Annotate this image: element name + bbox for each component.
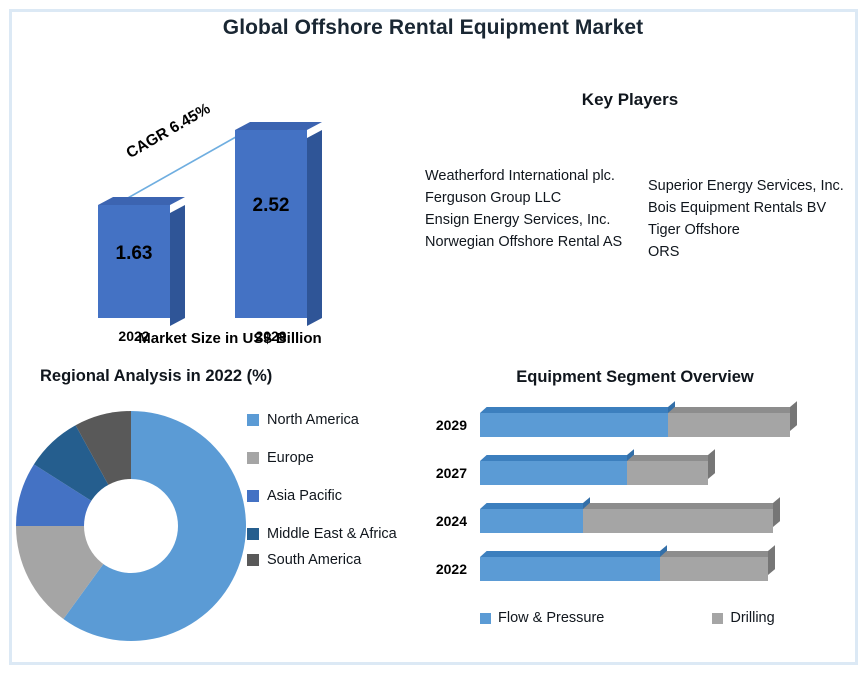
legend-item-asia-pacific[interactable]: Asia Pacific xyxy=(247,486,397,506)
segment-part-front-face xyxy=(660,557,768,581)
key-player-item: Ferguson Group LLC xyxy=(425,187,640,209)
segment-row-2024: 2024 xyxy=(415,501,845,539)
segment-part-flow-pressure xyxy=(480,413,668,437)
segment-legend: Flow & Pressure Drilling xyxy=(480,610,810,626)
key-player-item: Ensign Energy Services, Inc. xyxy=(425,209,640,231)
key-player-item: Norwegian Offshore Rental AS xyxy=(425,231,640,253)
segment-part-side-face xyxy=(773,497,780,527)
legend-item-europe[interactable]: Europe xyxy=(247,448,397,468)
legend-label: Europe xyxy=(267,448,314,468)
segment-year-label: 2022 xyxy=(415,561,467,577)
legend-swatch-icon xyxy=(247,490,259,502)
column-bar-2022: 1.63 xyxy=(98,205,170,318)
segment-part-drilling xyxy=(627,461,708,485)
column-bar-2022-top-face xyxy=(98,197,185,205)
key-players-left-column: Weatherford International plc. Ferguson … xyxy=(425,165,640,253)
segment-part-side-face xyxy=(708,449,715,479)
donut-svg xyxy=(13,408,249,644)
regional-donut-chart xyxy=(13,408,249,644)
legend-item-south-america[interactable]: South America xyxy=(247,550,397,570)
key-player-item: Tiger Offshore xyxy=(648,219,860,241)
legend-swatch-icon xyxy=(247,414,259,426)
legend-label: Flow & Pressure xyxy=(498,610,604,626)
segment-year-label: 2027 xyxy=(415,465,467,481)
key-player-item: ORS xyxy=(648,241,860,263)
segment-row-2029: 2029 xyxy=(415,405,845,443)
segment-part-drilling xyxy=(668,413,790,437)
column-bar-2029: 2.52 xyxy=(235,130,307,318)
legend-label: Middle East & Africa xyxy=(267,524,397,544)
regional-legend: North America Europe Asia Pacific Middle… xyxy=(247,410,397,588)
segment-part-drilling xyxy=(660,557,768,581)
infographic-canvas: Global Offshore Rental Equipment Market … xyxy=(0,0,867,674)
legend-label: Drilling xyxy=(730,610,774,626)
key-players-title: Key Players xyxy=(470,90,790,110)
column-bar-2029-side-face xyxy=(307,130,322,326)
legend-item-middle-east-africa[interactable]: Middle East & Africa xyxy=(247,524,397,544)
column-bar-2022-value: 1.63 xyxy=(98,243,170,265)
legend-item-north-america[interactable]: North America xyxy=(247,410,397,430)
key-player-item: Superior Energy Services, Inc. xyxy=(648,175,860,197)
segment-legend-item-flow-pressure[interactable]: Flow & Pressure xyxy=(480,610,604,626)
market-size-column-chart: 1.63 2.52 2022 2029 xyxy=(60,110,400,360)
segment-part-side-face xyxy=(768,545,775,575)
segment-overview-title: Equipment Segment Overview xyxy=(470,368,800,387)
segment-part-side-face xyxy=(790,401,797,431)
legend-swatch-icon xyxy=(480,613,491,624)
segment-year-label: 2024 xyxy=(415,513,467,529)
key-player-item: Bois Equipment Rentals BV xyxy=(648,197,860,219)
segment-part-front-face xyxy=(480,461,627,485)
segment-year-label: 2029 xyxy=(415,417,467,433)
legend-label: Asia Pacific xyxy=(267,486,342,506)
segment-part-flow-pressure xyxy=(480,509,583,533)
column-bar-2029-front-face xyxy=(235,130,307,318)
legend-swatch-icon xyxy=(712,613,723,624)
regional-analysis-title: Regional Analysis in 2022 (%) xyxy=(40,367,360,386)
key-player-item: Weatherford International plc. xyxy=(425,165,640,187)
segment-part-front-face xyxy=(583,509,773,533)
segment-overview-chart: 2029 2027 xyxy=(415,405,845,595)
segment-row-2027: 2027 xyxy=(415,453,845,491)
legend-swatch-icon xyxy=(247,528,259,540)
segment-part-front-face xyxy=(627,461,708,485)
segment-part-front-face xyxy=(668,413,790,437)
market-size-caption: Market Size in US$ Billion xyxy=(60,330,400,347)
segment-part-flow-pressure xyxy=(480,461,627,485)
donut-hole xyxy=(84,479,178,573)
key-players-right-column: Superior Energy Services, Inc. Bois Equi… xyxy=(648,175,860,263)
legend-label: South America xyxy=(267,550,361,570)
segment-part-flow-pressure xyxy=(480,557,660,581)
column-bar-2029-top-face xyxy=(235,122,322,130)
page-title: Global Offshore Rental Equipment Market xyxy=(183,14,683,42)
segment-legend-item-drilling[interactable]: Drilling xyxy=(712,610,774,626)
segment-part-drilling xyxy=(583,509,773,533)
column-bar-2029-value: 2.52 xyxy=(235,195,307,217)
column-bar-2022-side-face xyxy=(170,205,185,326)
legend-label: North America xyxy=(267,410,359,430)
legend-swatch-icon xyxy=(247,452,259,464)
legend-swatch-icon xyxy=(247,554,259,566)
segment-part-front-face xyxy=(480,413,668,437)
segment-part-front-face xyxy=(480,509,583,533)
segment-row-2022: 2022 xyxy=(415,549,845,587)
segment-part-front-face xyxy=(480,557,660,581)
